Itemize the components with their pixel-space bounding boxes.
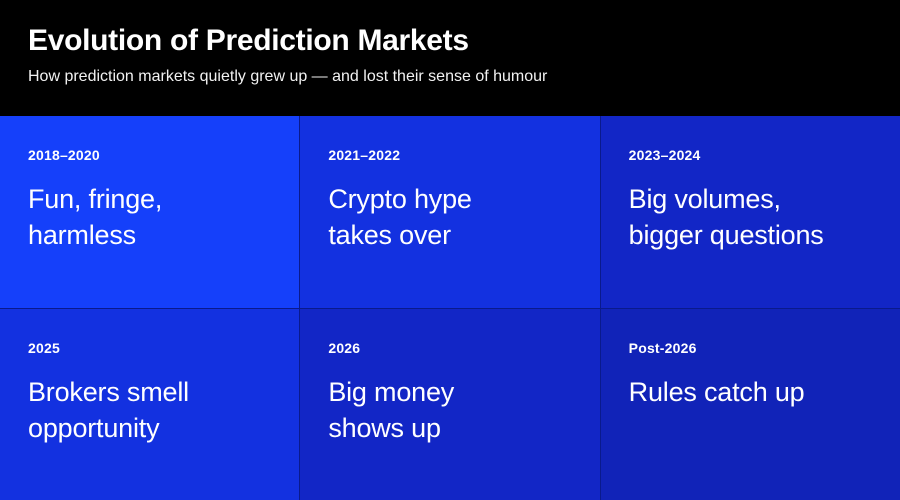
header: Evolution of Prediction Markets How pred… xyxy=(0,0,900,116)
page-subtitle: How prediction markets quietly grew up —… xyxy=(28,66,872,88)
timeline-cell-2: 2021–2022 Crypto hype takes over xyxy=(300,116,599,308)
timeline-grid: 2018–2020 Fun, fringe, harmless 2021–202… xyxy=(0,116,900,500)
timeline-period-label: 2025 xyxy=(28,339,273,357)
timeline-headline: Brokers smell opportunity xyxy=(28,374,273,446)
timeline-headline: Big money shows up xyxy=(328,374,573,446)
timeline-headline: Big volumes, bigger questions xyxy=(629,181,874,253)
timeline-period-label: 2018–2020 xyxy=(28,146,273,164)
timeline-headline: Fun, fringe, harmless xyxy=(28,181,273,253)
timeline-headline: Crypto hype takes over xyxy=(328,181,573,253)
timeline-cell-1: 2018–2020 Fun, fringe, harmless xyxy=(0,116,299,308)
timeline-cell-6: Post-2026 Rules catch up xyxy=(601,309,900,500)
timeline-period-label: 2026 xyxy=(328,339,573,357)
timeline-headline: Rules catch up xyxy=(629,374,874,410)
timeline-period-label: 2021–2022 xyxy=(328,146,573,164)
page-title: Evolution of Prediction Markets xyxy=(28,22,872,60)
timeline-cell-3: 2023–2024 Big volumes, bigger questions xyxy=(601,116,900,308)
infographic-root: Evolution of Prediction Markets How pred… xyxy=(0,0,900,500)
timeline-period-label: Post-2026 xyxy=(629,339,874,357)
timeline-cell-4: 2025 Brokers smell opportunity xyxy=(0,309,299,500)
timeline-period-label: 2023–2024 xyxy=(629,146,874,164)
timeline-cell-5: 2026 Big money shows up xyxy=(300,309,599,500)
